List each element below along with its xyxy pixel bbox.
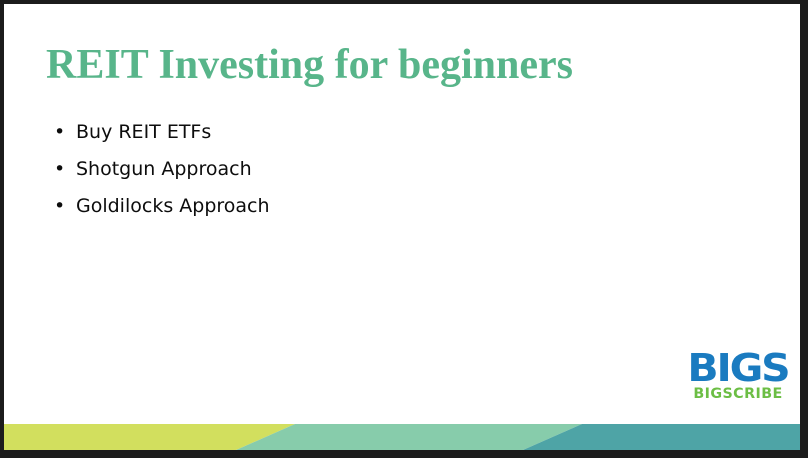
bottom-bar-shapes <box>4 424 800 450</box>
logo-wordmark-text: BIGSCRIBE <box>685 387 791 402</box>
list-item: • Buy REIT ETFs <box>54 114 270 151</box>
bullet-list: • Buy REIT ETFs • Shotgun Approach • Gol… <box>54 114 270 225</box>
bullet-point-icon: • <box>54 151 65 188</box>
page-title: REIT Investing for beginners <box>46 42 573 88</box>
list-item-label: Buy REIT ETFs <box>76 121 211 143</box>
list-item-label: Shotgun Approach <box>76 158 252 180</box>
slide-frame: REIT Investing for beginners • Buy REIT … <box>0 0 808 458</box>
logo-mark-text: BIGS <box>682 352 794 384</box>
decorative-bottom-bar <box>4 424 800 450</box>
list-item-label: Goldilocks Approach <box>76 195 270 217</box>
bigscribe-logo: BIGS BIGSCRIBE <box>686 352 790 402</box>
list-item: • Shotgun Approach <box>54 151 270 188</box>
slide-canvas: REIT Investing for beginners • Buy REIT … <box>4 4 800 450</box>
bullet-point-icon: • <box>54 188 65 225</box>
bar-segment-mint <box>236 424 582 450</box>
list-item: • Goldilocks Approach <box>54 188 270 225</box>
bullet-point-icon: • <box>54 114 65 151</box>
